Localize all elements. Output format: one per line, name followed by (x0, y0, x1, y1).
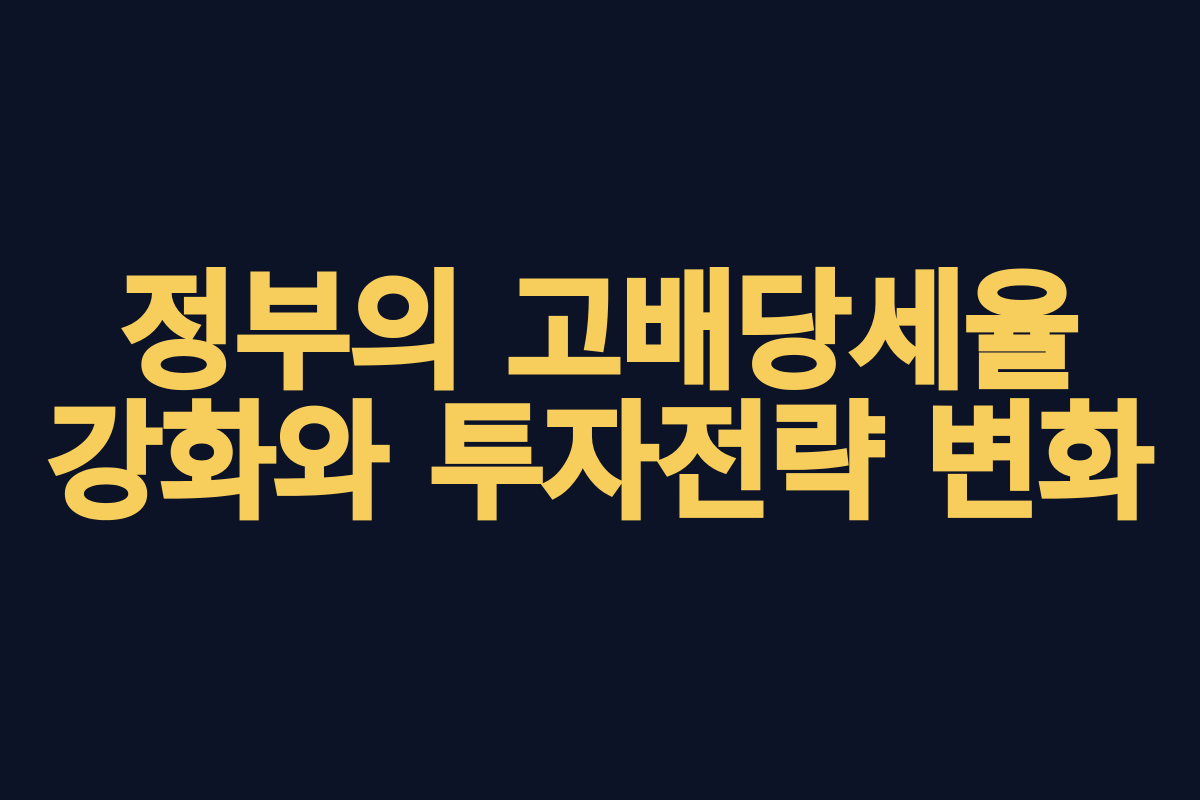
title-card: 정부의 고배당세율 강화와 투자전략 변화 (0, 0, 1200, 800)
headline-line-1: 정부의 고배당세율 (121, 270, 1079, 396)
headline-line-2: 강화와 투자전략 변화 (48, 402, 1153, 527)
headline-block: 정부의 고배당세율 강화와 투자전략 변화 (0, 270, 1200, 527)
